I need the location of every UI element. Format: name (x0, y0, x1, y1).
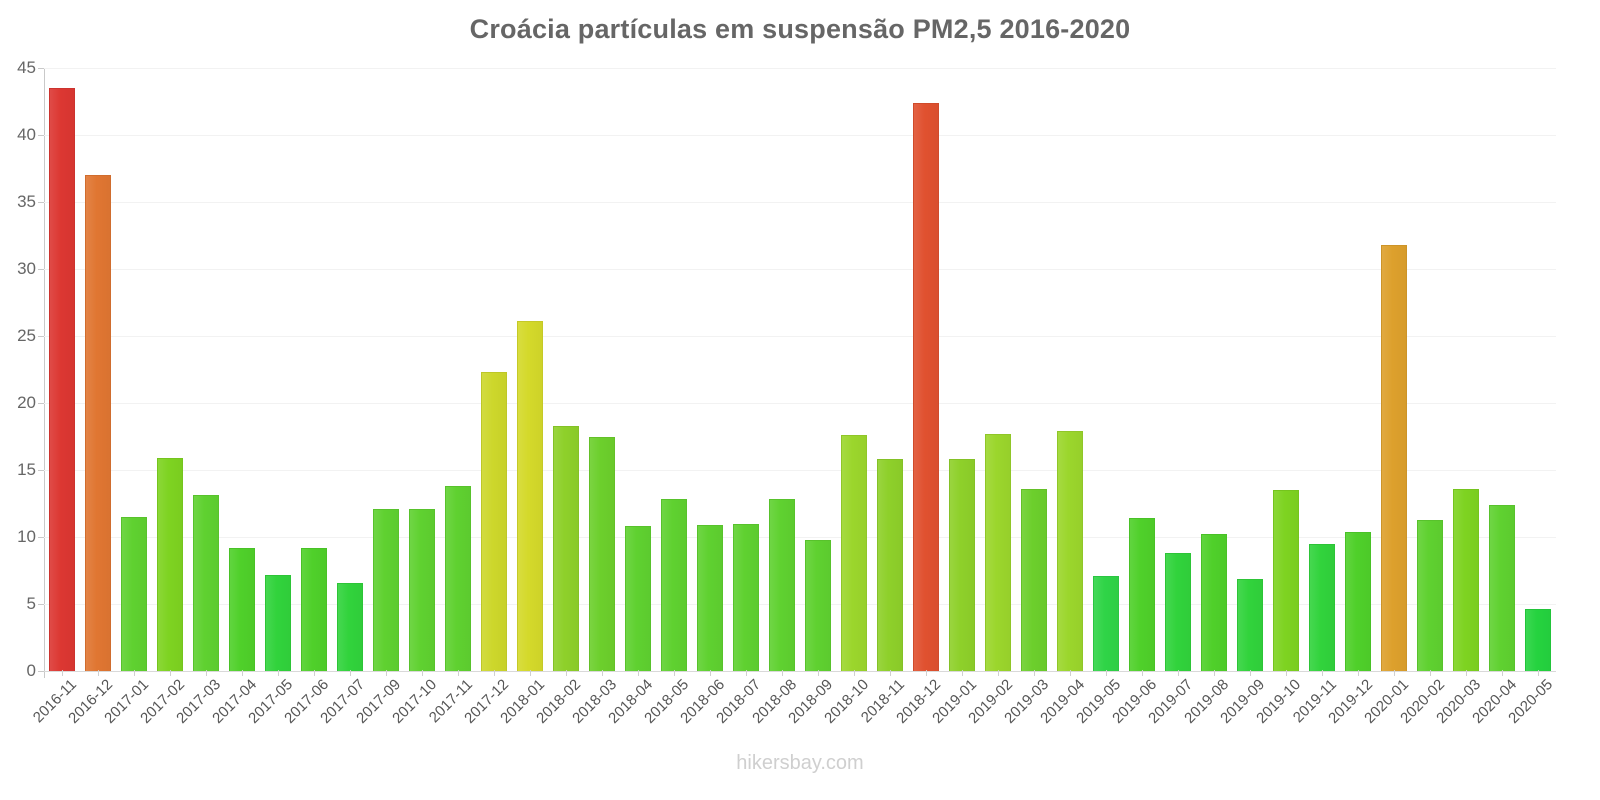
bar-gloss (1490, 506, 1513, 671)
bar[interactable] (733, 524, 758, 671)
bar[interactable] (1525, 609, 1550, 671)
bar-gloss (734, 525, 757, 671)
x-axis-tick (1322, 670, 1323, 676)
bar[interactable] (1093, 576, 1118, 671)
x-axis-tick (1142, 670, 1143, 676)
y-axis-label: 15 (17, 460, 36, 480)
x-axis-tick (386, 670, 387, 676)
bar[interactable] (337, 583, 362, 671)
bar[interactable] (121, 517, 146, 671)
x-axis-tick (1286, 670, 1287, 676)
bar[interactable] (1273, 490, 1298, 671)
bar-gloss (1526, 610, 1549, 671)
bar[interactable] (1309, 544, 1334, 671)
y-axis-tick (38, 336, 44, 337)
bar[interactable] (1345, 532, 1370, 671)
bar-gloss (842, 436, 865, 671)
bar-gloss (482, 373, 505, 671)
bar-gloss (410, 510, 433, 671)
bar[interactable] (841, 435, 866, 671)
y-axis-tick (38, 68, 44, 69)
y-axis-tick (38, 671, 44, 672)
y-axis-tick (38, 135, 44, 136)
bar[interactable] (949, 459, 974, 671)
x-axis-tick (1358, 670, 1359, 676)
bar[interactable] (1129, 518, 1154, 671)
x-axis-tick (314, 670, 315, 676)
bar[interactable] (373, 509, 398, 671)
x-axis-tick (926, 670, 927, 676)
bar-gloss (626, 527, 649, 671)
bar-gloss (878, 460, 901, 671)
bar[interactable] (769, 499, 794, 671)
y-axis-label: 25 (17, 326, 36, 346)
x-axis-tick (1502, 670, 1503, 676)
x-axis-tick (1178, 670, 1179, 676)
x-axis-tick (818, 670, 819, 676)
x-axis-tick (1538, 670, 1539, 676)
x-axis-tick (350, 670, 351, 676)
bar-gloss (554, 427, 577, 671)
x-axis-tick (782, 670, 783, 676)
bar-gloss (50, 89, 73, 671)
x-axis-tick (890, 670, 891, 676)
bar-gloss (662, 500, 685, 671)
x-axis-tick (458, 670, 459, 676)
bar-gloss (1454, 490, 1477, 671)
bar[interactable] (1201, 534, 1226, 671)
x-axis-tick (98, 670, 99, 676)
bar-gloss (1022, 490, 1045, 671)
chart-title: Croácia partículas em suspensão PM2,5 20… (0, 14, 1600, 45)
bar-gloss (1382, 246, 1405, 671)
y-axis-label: 0 (27, 661, 36, 681)
bar-gloss (1310, 545, 1333, 671)
bar[interactable] (589, 437, 614, 672)
bar[interactable] (1489, 505, 1514, 671)
y-axis-label: 35 (17, 192, 36, 212)
y-axis-tick-labels: 051015202530354045 (0, 68, 36, 671)
bar[interactable] (1417, 520, 1442, 671)
x-axis-tick (62, 670, 63, 676)
bar-gloss (1094, 577, 1117, 671)
bar[interactable] (517, 321, 542, 671)
x-axis-tick (602, 670, 603, 676)
x-axis-tick (746, 670, 747, 676)
bar-gloss (698, 526, 721, 671)
bar-gloss (770, 500, 793, 671)
bar[interactable] (301, 548, 326, 671)
bar[interactable] (85, 175, 110, 671)
x-axis-tick (674, 670, 675, 676)
bar[interactable] (985, 434, 1010, 671)
bar[interactable] (157, 458, 182, 671)
bar[interactable] (1057, 431, 1082, 671)
bar[interactable] (1021, 489, 1046, 671)
gridline (44, 671, 1556, 672)
x-axis-tick (1430, 670, 1431, 676)
bar-gloss (230, 549, 253, 671)
bar-gloss (1130, 519, 1153, 671)
bar-gloss (1238, 580, 1261, 671)
bar[interactable] (877, 459, 902, 671)
plot-area (44, 68, 1556, 671)
x-axis-tick (998, 670, 999, 676)
bar[interactable] (661, 499, 686, 671)
x-axis-tick (1106, 670, 1107, 676)
x-axis-tick (854, 670, 855, 676)
bar-gloss (302, 549, 325, 671)
x-axis-tick (1394, 670, 1395, 676)
bar[interactable] (193, 495, 218, 671)
bar[interactable] (913, 103, 938, 671)
x-axis-tick (134, 670, 135, 676)
bar-gloss (1346, 533, 1369, 671)
y-axis-tick (38, 403, 44, 404)
bar-gloss (1274, 491, 1297, 671)
y-axis-label: 40 (17, 125, 36, 145)
bar-gloss (986, 435, 1009, 671)
y-axis-tick (38, 604, 44, 605)
x-axis-tick (566, 670, 567, 676)
y-axis-label: 20 (17, 393, 36, 413)
bar[interactable] (805, 540, 830, 671)
bar-series (44, 68, 1556, 671)
bar[interactable] (553, 426, 578, 671)
y-axis-tick (38, 537, 44, 538)
bar-gloss (1166, 554, 1189, 671)
x-axis-tick (422, 670, 423, 676)
bar[interactable] (625, 526, 650, 671)
x-axis-tick (1214, 670, 1215, 676)
bar-gloss (518, 322, 541, 671)
x-axis-tick (530, 670, 531, 676)
y-axis-label: 5 (27, 594, 36, 614)
y-axis-tick (38, 470, 44, 471)
x-axis-tick (494, 670, 495, 676)
x-axis-tick (1466, 670, 1467, 676)
bar-gloss (806, 541, 829, 671)
bar-gloss (590, 438, 613, 672)
bar-gloss (374, 510, 397, 671)
bar-gloss (266, 576, 289, 671)
x-axis-tick (206, 670, 207, 676)
bar-gloss (338, 584, 361, 671)
y-axis-label: 45 (17, 58, 36, 78)
x-axis-tick (278, 670, 279, 676)
x-axis-tick (710, 670, 711, 676)
bar-gloss (1418, 521, 1441, 671)
x-axis-tick (170, 670, 171, 676)
bar[interactable] (49, 88, 74, 671)
chart-container: Croácia partículas em suspensão PM2,5 20… (0, 0, 1600, 800)
y-axis-label: 30 (17, 259, 36, 279)
x-axis-tick (1070, 670, 1071, 676)
bar-gloss (446, 487, 469, 671)
x-axis-tick (1250, 670, 1251, 676)
bar[interactable] (1237, 579, 1262, 671)
bar-gloss (122, 518, 145, 671)
bar-gloss (1058, 432, 1081, 671)
bar-gloss (194, 496, 217, 671)
bar-gloss (158, 459, 181, 671)
x-axis-tick (242, 670, 243, 676)
x-axis-tick (962, 670, 963, 676)
x-axis-tick (638, 670, 639, 676)
bar[interactable] (409, 509, 434, 671)
bar-gloss (1202, 535, 1225, 671)
bar[interactable] (697, 525, 722, 671)
bar[interactable] (1453, 489, 1478, 671)
y-axis-label: 10 (17, 527, 36, 547)
bar[interactable] (229, 548, 254, 671)
footer-credit: hikersbay.com (0, 752, 1600, 775)
bar-gloss (950, 460, 973, 671)
bar[interactable] (481, 372, 506, 671)
bar[interactable] (1165, 553, 1190, 671)
bar-gloss (86, 176, 109, 671)
bar[interactable] (1381, 245, 1406, 671)
y-axis-tick (38, 269, 44, 270)
bar[interactable] (265, 575, 290, 671)
y-axis-tick (38, 202, 44, 203)
bar[interactable] (445, 486, 470, 671)
x-axis-tick (1034, 670, 1035, 676)
bar-gloss (914, 104, 937, 671)
